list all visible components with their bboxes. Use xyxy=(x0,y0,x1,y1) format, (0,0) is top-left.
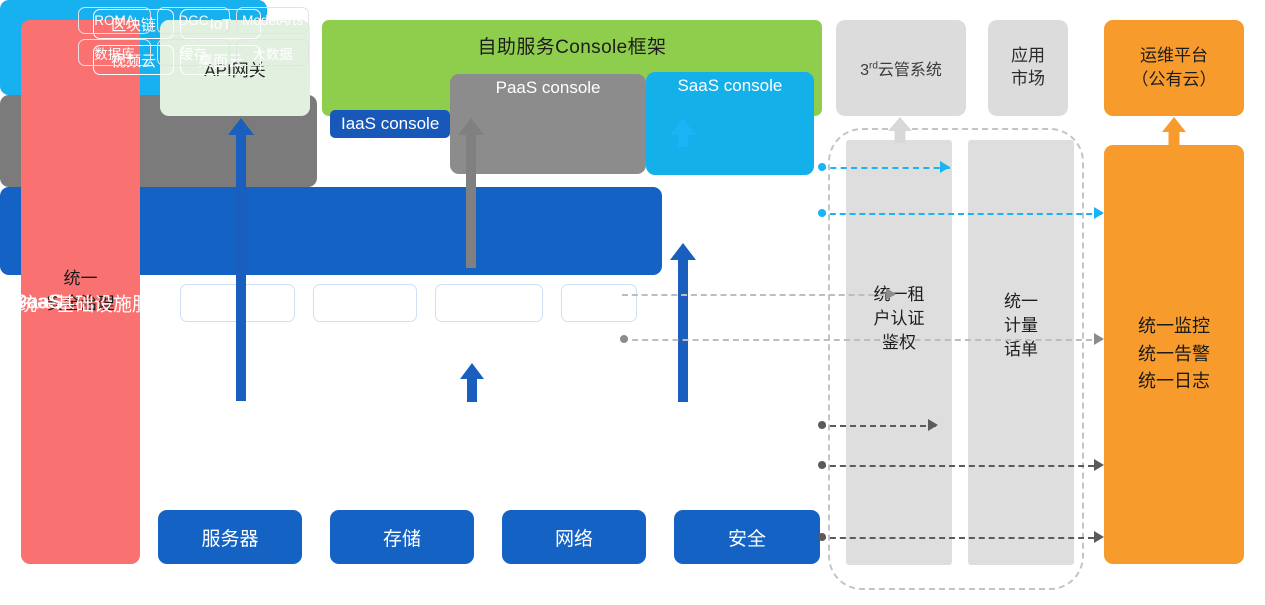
hardware-server-label: 服务器 xyxy=(201,524,258,551)
ops-platform-public-cloud-box: 运维平台 （公有云） xyxy=(1104,20,1244,116)
dot-saas-auth xyxy=(818,163,826,171)
unified-metering-billing-column: 统一 计量 话单 xyxy=(968,140,1074,565)
auth-line-2: 户认证 xyxy=(846,307,952,331)
infra-service-storage[interactable]: Storage xyxy=(313,284,417,322)
ops-platform-line-1: 运维平台 xyxy=(1132,44,1217,68)
arrowhead-paas-ops xyxy=(1094,333,1104,345)
hardware-server-box: 服务器 xyxy=(158,510,302,564)
hardware-storage-label: 存储 xyxy=(383,524,421,551)
self-service-console-framework: 自助服务Console框架 IaaS console PaaS console … xyxy=(322,20,822,116)
hardware-network-box: 网络 xyxy=(502,510,646,564)
iaas-console-badge[interactable]: IaaS console xyxy=(330,110,450,138)
dashed-infra-to-ops xyxy=(820,465,1094,467)
dashed-saas-to-ops xyxy=(820,213,1102,215)
dot-hardware-ops xyxy=(818,533,826,541)
arrowhead-saas-ops xyxy=(1094,207,1104,219)
arrowhead-hardware-ops xyxy=(1094,531,1104,543)
app-market-line-1: 应用 xyxy=(1011,45,1045,68)
arrow-infra-to-saas xyxy=(670,243,696,402)
arrow-saas-to-console xyxy=(670,118,696,147)
auth-line-3: 鉴权 xyxy=(846,331,952,355)
arrowhead-paas-auth xyxy=(886,288,896,300)
dot-paas-ops xyxy=(620,335,628,343)
app-market-box: 应用 市场 xyxy=(988,20,1068,116)
paas-service-bigdata[interactable]: 大数据 xyxy=(236,39,309,66)
hardware-security-label: 安全 xyxy=(728,524,766,551)
dot-infra-ops xyxy=(818,461,826,469)
third-party-cloud-management-box: 3rd云管系统 xyxy=(836,20,966,116)
hardware-security-box: 安全 xyxy=(674,510,820,564)
ops-col-line-1: 统一监控 xyxy=(1138,313,1210,341)
hardware-network-label: 网络 xyxy=(555,524,593,551)
app-market-line-2: 市场 xyxy=(1011,68,1045,91)
dashed-infra-to-auth xyxy=(820,425,936,427)
dashed-paas-to-auth xyxy=(622,294,894,296)
paas-service-dgc[interactable]: DGC xyxy=(157,7,230,34)
infrastructure-label: 统一基础设施服务 xyxy=(18,289,170,316)
ops-col-line-2: 统一告警 xyxy=(1138,341,1210,369)
arrow-infra-to-api-gateway xyxy=(228,118,254,401)
meter-line-1: 统一 xyxy=(968,290,1074,314)
dot-saas-ops xyxy=(818,209,826,217)
arrowhead-infra-auth xyxy=(928,419,938,431)
paas-service-database[interactable]: 数据库 xyxy=(78,39,151,66)
dashed-paas-to-ops xyxy=(622,339,1102,341)
dashed-hardware-to-ops xyxy=(820,537,1094,539)
infra-service-network[interactable]: Network xyxy=(435,284,542,322)
architecture-diagram: 统一 安全治理 API网关 自助服务Console框架 IaaS console… xyxy=(0,0,1265,605)
dot-infra-auth xyxy=(818,421,826,429)
arrow-shared-to-third-party-cloud xyxy=(888,117,912,143)
arrowhead-saas-auth xyxy=(940,161,950,173)
arrow-infra-to-paas xyxy=(460,363,484,402)
hardware-storage-box: 存储 xyxy=(330,510,474,564)
infra-service-cce[interactable]: CCE xyxy=(561,284,637,322)
console-framework-title: 自助服务Console框架 xyxy=(322,32,822,59)
arrow-ops-column-to-ops-platform xyxy=(1162,117,1186,146)
unified-tenant-auth-column: 统一租 户认证 鉴权 xyxy=(846,140,952,565)
unified-monitoring-column: 统一监控 统一告警 统一日志 xyxy=(1104,145,1244,564)
paas-service-group: ROMA DGC ModelArts 数据库 缓存 大数据 xyxy=(78,7,310,66)
paas-service-roma[interactable]: ROMA xyxy=(78,7,151,34)
console-badge-group: IaaS console PaaS console SaaS console xyxy=(322,72,822,175)
meter-line-3: 话单 xyxy=(968,338,1074,362)
paas-service-modelarts[interactable]: ModelArts xyxy=(236,7,309,34)
paas-service-cache[interactable]: 缓存 xyxy=(157,39,230,66)
arrow-paas-to-console xyxy=(458,118,484,268)
meter-line-2: 计量 xyxy=(968,314,1074,338)
ops-col-line-3: 统一日志 xyxy=(1138,368,1210,396)
third-party-cloud-label: 3rd云管系统 xyxy=(860,56,942,80)
dashed-saas-to-auth xyxy=(820,167,950,169)
arrowhead-infra-ops xyxy=(1094,459,1104,471)
ops-platform-line-2: （公有云） xyxy=(1132,68,1217,92)
